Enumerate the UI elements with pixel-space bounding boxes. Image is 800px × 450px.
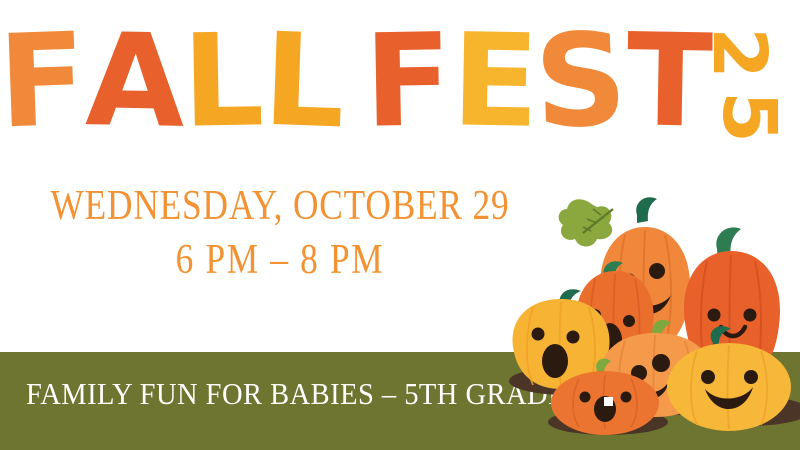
title-letter-l1: L — [181, 17, 263, 146]
year-monogram-25: 2 5 — [713, 18, 800, 154]
stem — [636, 197, 657, 223]
title-letter-s: S — [532, 16, 627, 147]
title-letter-l2: L — [261, 17, 345, 148]
banner-audience-text: FAMILY FUN FOR BABIES – 5TH GRADE! — [26, 377, 576, 411]
year-digit-2: 2 — [702, 27, 776, 79]
title-letter-f2: F — [363, 17, 451, 146]
title-row: F A L L F E S T 2 5 — [0, 18, 800, 163]
event-time: 6 PM – 8 PM — [45, 232, 515, 288]
oak-leaf-icon — [559, 199, 613, 246]
title-letter-a: A — [85, 17, 184, 147]
pumpkin-patch-illustration — [505, 175, 800, 450]
event-date: WEDNESDAY, OCTOBER 29 — [45, 180, 515, 232]
fall-fest-flyer: F A L L F E S T 2 5 WEDNESDAY, OCTOBER 2… — [0, 0, 800, 450]
title-letter-e: E — [450, 17, 538, 146]
year-digit-5: 5 — [712, 91, 786, 143]
title-letter-f1: F — [0, 17, 86, 148]
date-time-block: WEDNESDAY, OCTOBER 29 6 PM – 8 PM — [0, 180, 560, 288]
